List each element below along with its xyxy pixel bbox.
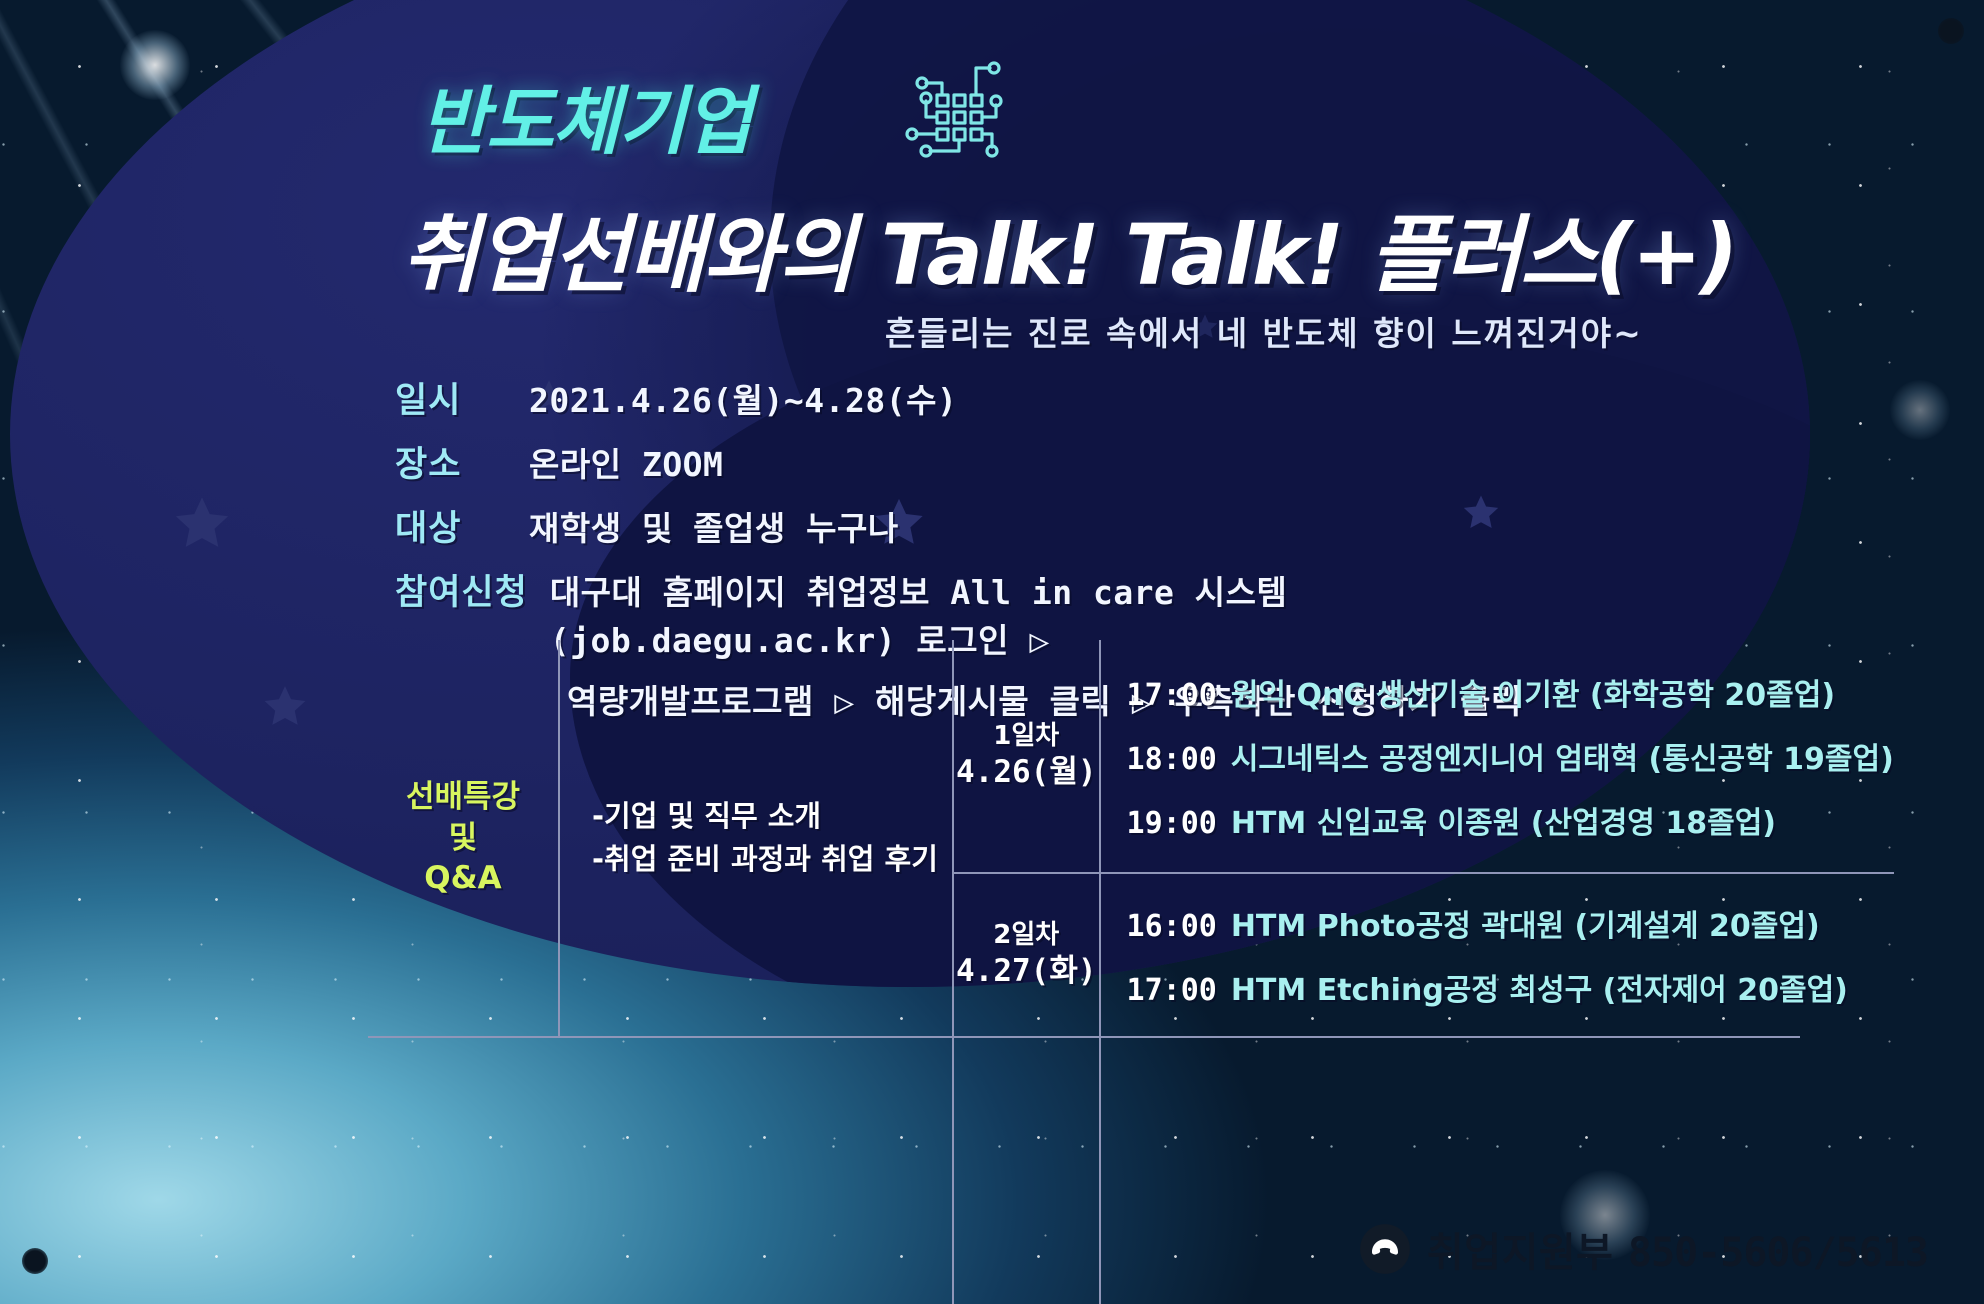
bokeh-light	[1890, 380, 1950, 440]
schedule-table: 선배특강 및 Q&A -기업 및 직무 소개 -취업 준비 과정과 취업 후기 …	[368, 640, 1800, 1304]
session-item: 17:00원익 QnC 생산기술 이기환 (화학공학 20졸업)	[1127, 670, 1894, 714]
kicker-heading: 반도체기업	[420, 62, 750, 169]
session-item: 16:00HTM Photo공정 곽대원 (기계설계 20졸업)	[1127, 901, 1894, 945]
desc-line: -기업 및 직무 소개	[592, 795, 952, 839]
page-title: 취업선배와의 Talk! Talk! 플러스(+)	[402, 188, 1736, 309]
footer-contact: 취업지원부 850-5606/5613	[1359, 1220, 1928, 1278]
footer-phone: 850-5606/5613	[1628, 1230, 1928, 1276]
category-line: 및	[449, 820, 478, 856]
star-decor	[260, 682, 310, 732]
page-subtitle: 흔들리는 진로 속에서 네 반도체 향이 느껴진거야~	[885, 307, 1643, 355]
poster-root: 반도체기업 취업선배와의 Talk! Talk! 플러스(+) 흔들리는 진로 …	[0, 0, 1984, 1304]
corner-dot	[22, 1248, 48, 1274]
session-item: 17:00HTM Etching공정 최성구 (전자제어 20졸업)	[1127, 965, 1894, 1009]
schedule-session-list-2: 16:00HTM Photo공정 곽대원 (기계설계 20졸업) 17:00HT…	[1099, 874, 1894, 1036]
day-number: 1일차	[993, 720, 1059, 753]
info-value-audience: 재학생 및 졸업생 누구나	[529, 502, 899, 550]
schedule-day-1: 1일차 4.26(월) 17:00원익 QnC 생산기술 이기환 (화학공학 2…	[952, 640, 1894, 872]
info-row-place: 장소 온라인 ZOOM	[395, 436, 1595, 487]
schedule-day-2: 2일차 4.27(화) 16:00HTM Photo공정 곽대원 (기계설계 2…	[952, 874, 1894, 1036]
info-row-audience: 대상 재학생 및 졸업생 누구나	[395, 500, 1595, 551]
info-value-date: 2021.4.26(월)~4.28(수)	[529, 374, 957, 422]
schedule-day-label-3: 3일차 4.28(수)	[952, 1038, 1099, 1304]
bokeh-light	[120, 30, 190, 100]
session-text: HTM 신입교육 이종원 (산업경영 18졸업)	[1231, 806, 1776, 841]
star-decor	[170, 492, 234, 556]
schedule-session-list-1: 17:00원익 QnC 생산기술 이기환 (화학공학 20졸업) 18:00시그…	[1099, 640, 1894, 872]
session-item: 18:00시그네틱스 공정엔지니어 엄태혁 (통신공학 19졸업)	[1127, 734, 1894, 778]
info-row-date: 일시 2021.4.26(월)~4.28(수)	[395, 372, 1595, 423]
session-time: 16:00	[1127, 909, 1217, 944]
session-item: 19:00HTM 신입교육 이종원 (산업경영 18졸업)	[1127, 798, 1894, 842]
circuit-chip-icon	[888, 48, 1008, 168]
footer-department: 취업지원부	[1427, 1230, 1614, 1276]
info-label-apply: 참여신청	[395, 564, 528, 615]
corner-dot	[1938, 18, 1964, 44]
category-line: Q&A	[424, 860, 501, 896]
session-text: HTM Photo공정 곽대원 (기계설계 20졸업)	[1231, 909, 1820, 944]
desc-line: -취업 준비 과정과 취업 후기	[592, 838, 952, 882]
schedule-day-label-2: 2일차 4.27(화)	[952, 874, 1099, 1036]
day-number: 2일차	[993, 919, 1059, 952]
session-text: 시그네틱스 공정엔지니어 엄태혁 (통신공학 19졸업)	[1231, 742, 1894, 777]
schedule-day-label-1: 1일차 4.26(월)	[952, 640, 1099, 872]
footer-text: 취업지원부 850-5606/5613	[1427, 1220, 1928, 1278]
session-time: 17:00	[1127, 678, 1217, 713]
session-time: 17:00	[1127, 973, 1217, 1008]
schedule-group-lecture: 선배특강 및 Q&A -기업 및 직무 소개 -취업 준비 과정과 취업 후기 …	[368, 640, 1800, 1036]
session-time: 19:00	[1127, 806, 1217, 841]
schedule-banner-academy: 반도체기업 직무아카데미 설명회 및 Q&A	[368, 1038, 952, 1304]
session-time: 18:00	[1127, 742, 1217, 777]
session-text: 원익 QnC 생산기술 이기환 (화학공학 20졸업)	[1231, 678, 1835, 713]
info-label-place: 장소	[395, 436, 507, 487]
info-label-date: 일시	[395, 372, 507, 423]
day-date: 4.27(화)	[956, 952, 1097, 991]
schedule-desc-lecture: -기업 및 직무 소개 -취업 준비 과정과 취업 후기	[558, 640, 952, 1036]
phone-icon	[1359, 1223, 1411, 1275]
schedule-category-lecture: 선배특강 및 Q&A	[368, 640, 558, 1036]
info-value-place: 온라인 ZOOM	[529, 438, 723, 486]
day-date: 4.26(월)	[956, 753, 1097, 792]
info-label-audience: 대상	[395, 500, 507, 551]
category-line: 선배특강	[406, 779, 520, 815]
session-text: HTM Etching공정 최성구 (전자제어 20졸업)	[1231, 973, 1848, 1008]
